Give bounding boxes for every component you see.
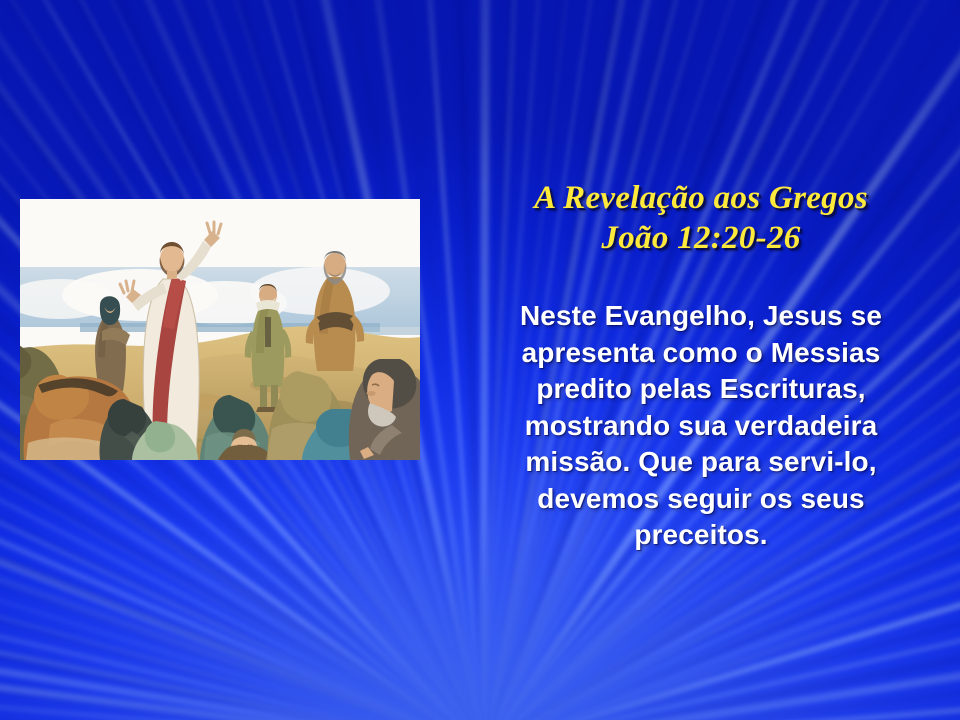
slide-title-line-1: A Revelação aos Gregos [470, 178, 932, 218]
slide-text-column: A Revelação aos Gregos João 12:20-26 Nes… [470, 178, 932, 554]
illustration-svg [20, 199, 420, 460]
body-text-line: preceitos. [470, 517, 932, 554]
slide-body-text: Neste Evangelho, Jesus seapresenta como … [470, 298, 932, 554]
presentation-slide: A Revelação aos Gregos João 12:20-26 Nes… [0, 0, 960, 720]
body-text-line: predito pelas Escrituras, [470, 371, 932, 408]
body-text-line: apresenta como o Messias [470, 335, 932, 372]
body-text-line: devemos seguir os seus [470, 481, 932, 518]
body-text-line: Neste Evangelho, Jesus se [470, 298, 932, 335]
jesus-preaching-illustration [20, 199, 420, 460]
body-text-line: mostrando sua verdadeira [470, 408, 932, 445]
body-text-line: missão. Que para servi-lo, [470, 444, 932, 481]
slide-title-line-2: João 12:20-26 [470, 218, 932, 258]
